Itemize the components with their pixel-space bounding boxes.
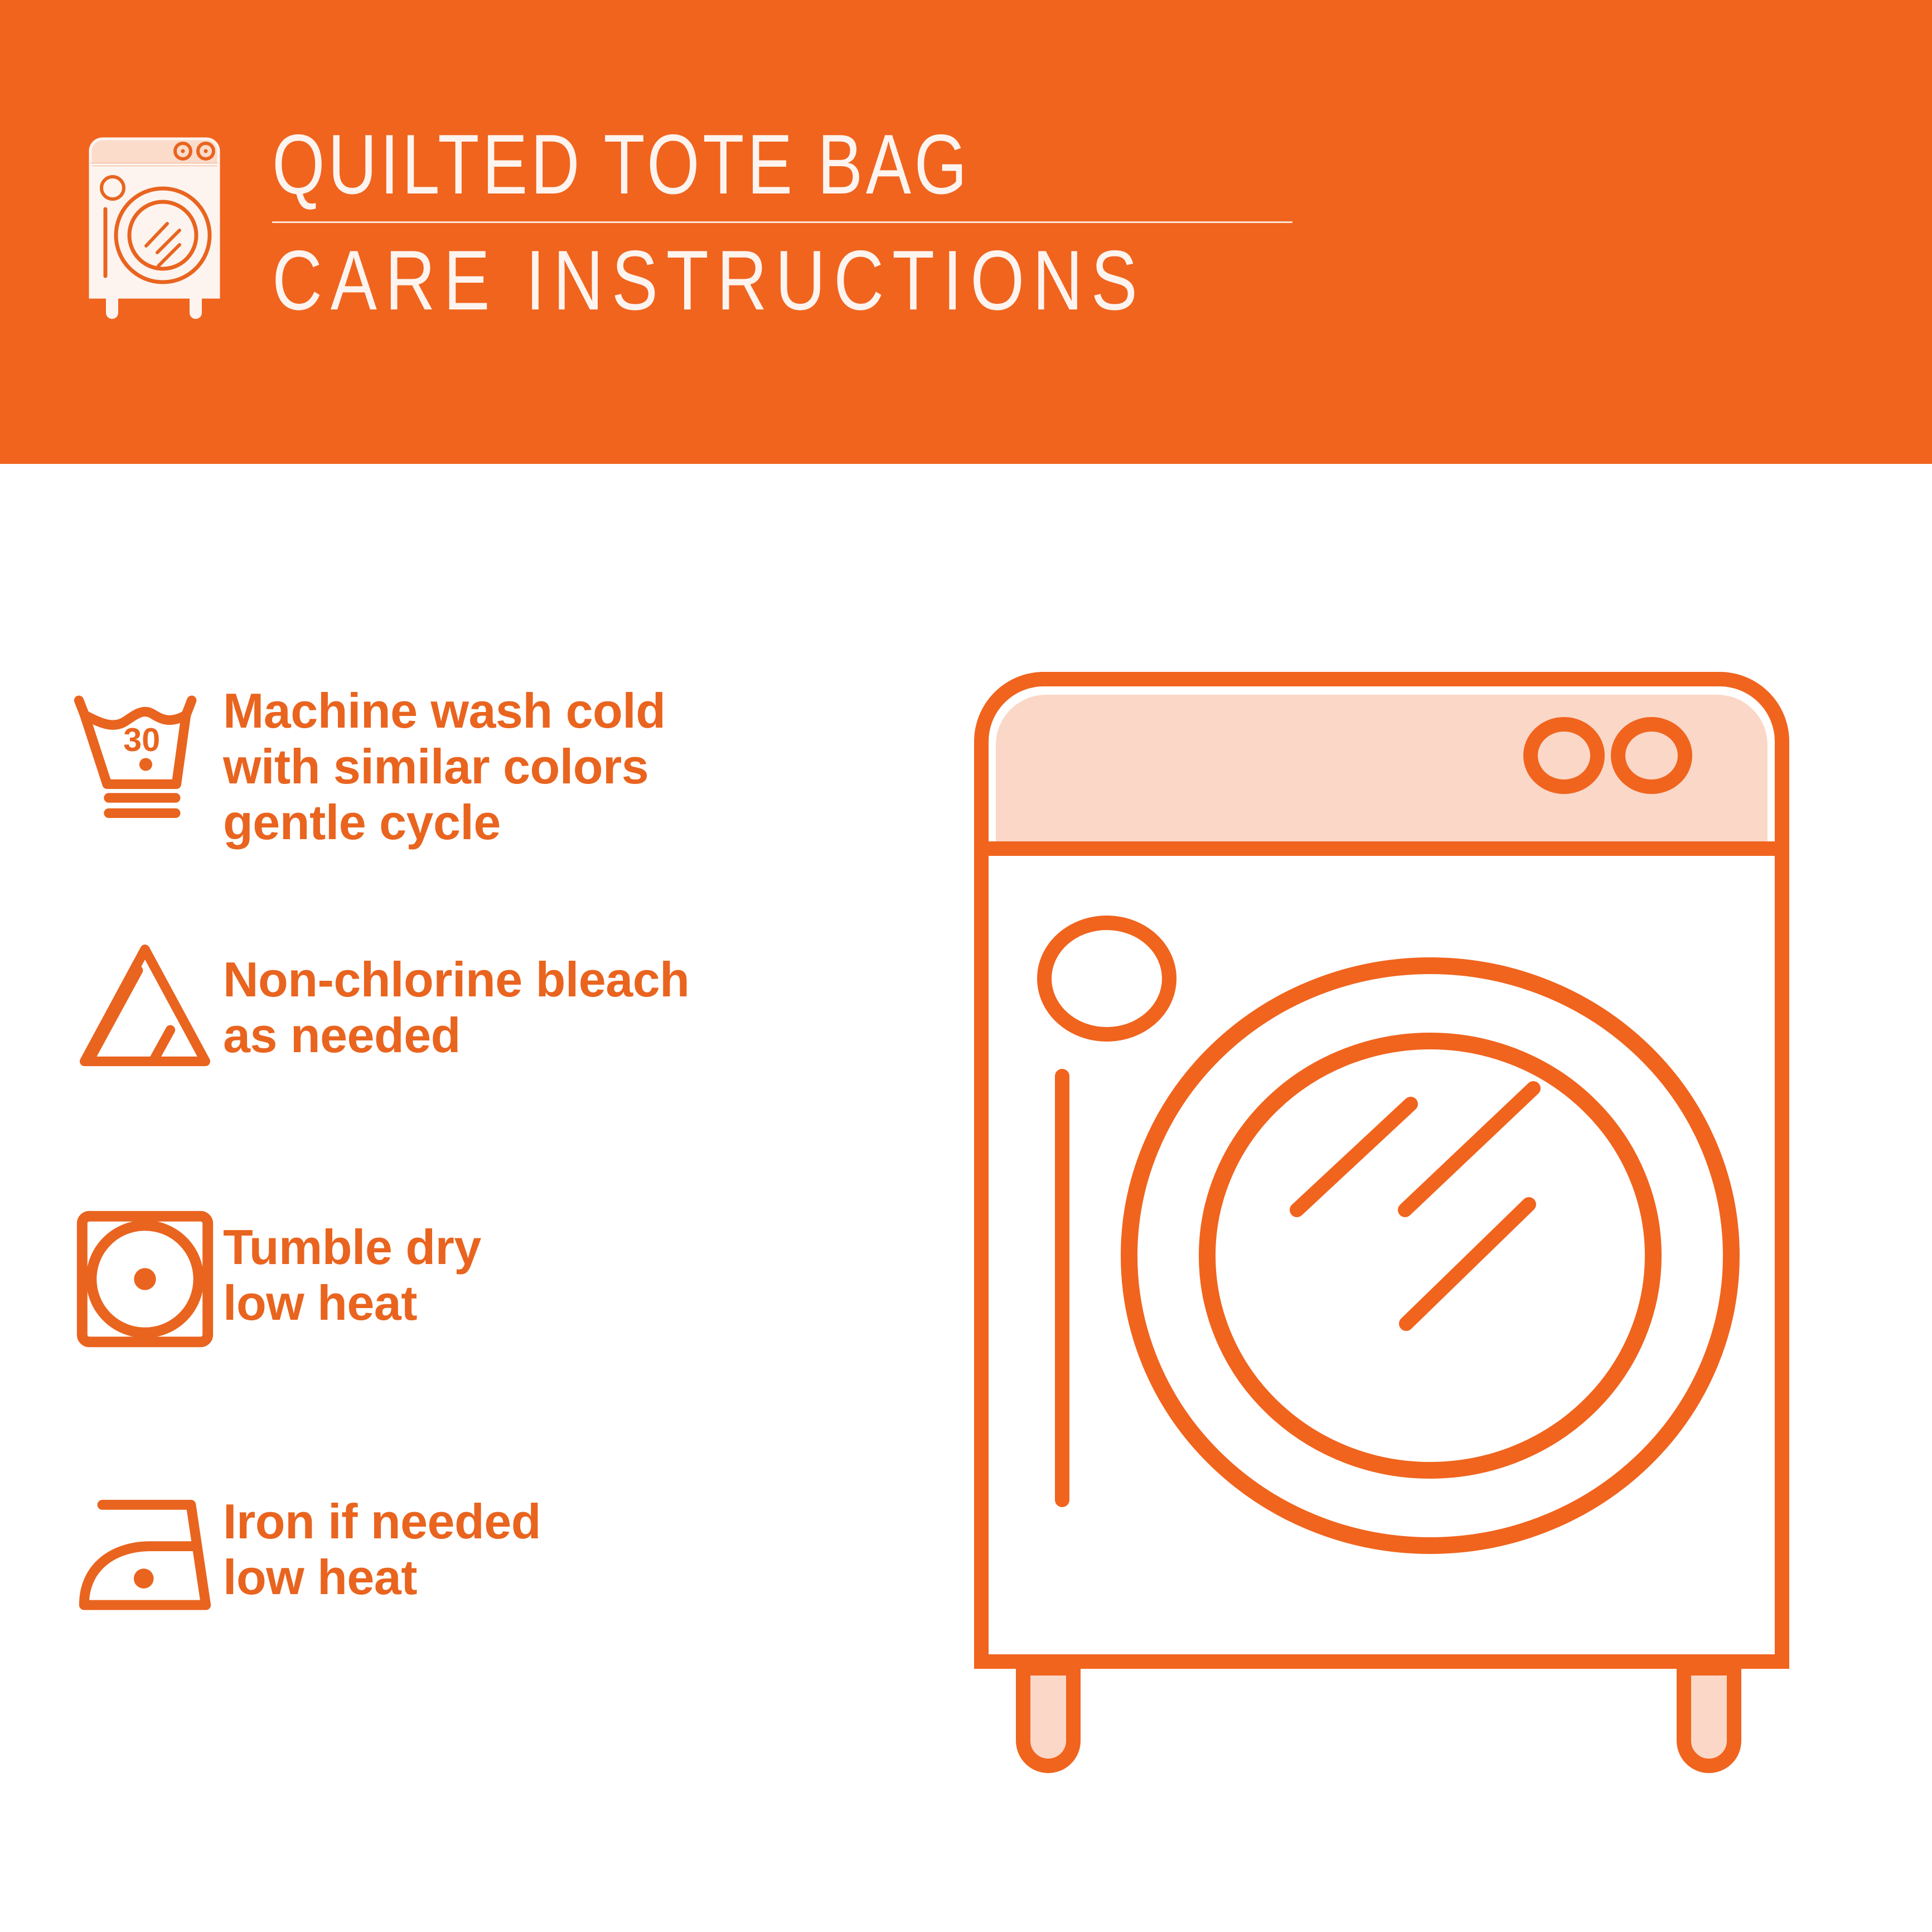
care-label-line: Iron if needed (223, 1494, 914, 1550)
care-row-tumble-dry: Tumble dry low heat (0, 1179, 914, 1447)
iron-low-heat-icon (0, 1447, 217, 1636)
care-label-bleach: Non-chlorine bleach as needed (217, 912, 914, 1063)
machine-wash-30-gentle-icon: 30 (0, 644, 217, 849)
care-label-iron: Iron if needed low heat (217, 1447, 914, 1605)
header-text-block: QUILTED TOTE BAG CARE INSTRUCTIONS (272, 120, 1320, 326)
care-label-line: as needed (223, 1008, 914, 1063)
front-load-washing-machine-illustration (965, 630, 1879, 1818)
knob-left[interactable] (1531, 724, 1597, 787)
wash-temperature-value: 30 (123, 721, 160, 758)
care-label-line: Machine wash cold (223, 683, 914, 739)
care-label-line: Tumble dry (223, 1219, 914, 1275)
washing-machine-icon (84, 132, 245, 322)
header-band: QUILTED TOTE BAG CARE INSTRUCTIONS (0, 0, 1932, 464)
foot-left (1023, 1668, 1073, 1766)
non-chlorine-bleach-triangle-icon (0, 912, 217, 1099)
care-label-line: with similar colors (223, 739, 914, 795)
care-instruction-list: 30 Machine wash cold with similar colors… (0, 644, 914, 1715)
care-label-line: low heat (223, 1550, 914, 1605)
care-label-tumble-dry: Tumble dry low heat (217, 1179, 914, 1331)
header-content: QUILTED TOTE BAG CARE INSTRUCTIONS (84, 120, 1320, 326)
foot-right (1684, 1668, 1734, 1766)
care-row-machine-wash: 30 Machine wash cold with similar colors… (0, 644, 914, 912)
care-row-iron: Iron if needed low heat (0, 1447, 914, 1715)
knob-right[interactable] (1618, 724, 1685, 787)
care-label-line: gentle cycle (223, 795, 914, 850)
page-subtitle: CARE INSTRUCTIONS (272, 235, 1132, 326)
care-label-line: Non-chlorine bleach (223, 952, 914, 1008)
care-label-machine-wash: Machine wash cold with similar colors ge… (217, 644, 914, 850)
care-row-bleach: Non-chlorine bleach as needed (0, 912, 914, 1179)
page-title: QUILTED TOTE BAG (272, 120, 1111, 209)
header-divider (272, 221, 1292, 223)
care-label-line: low heat (223, 1275, 914, 1331)
tumble-dry-low-heat-icon (0, 1179, 217, 1371)
